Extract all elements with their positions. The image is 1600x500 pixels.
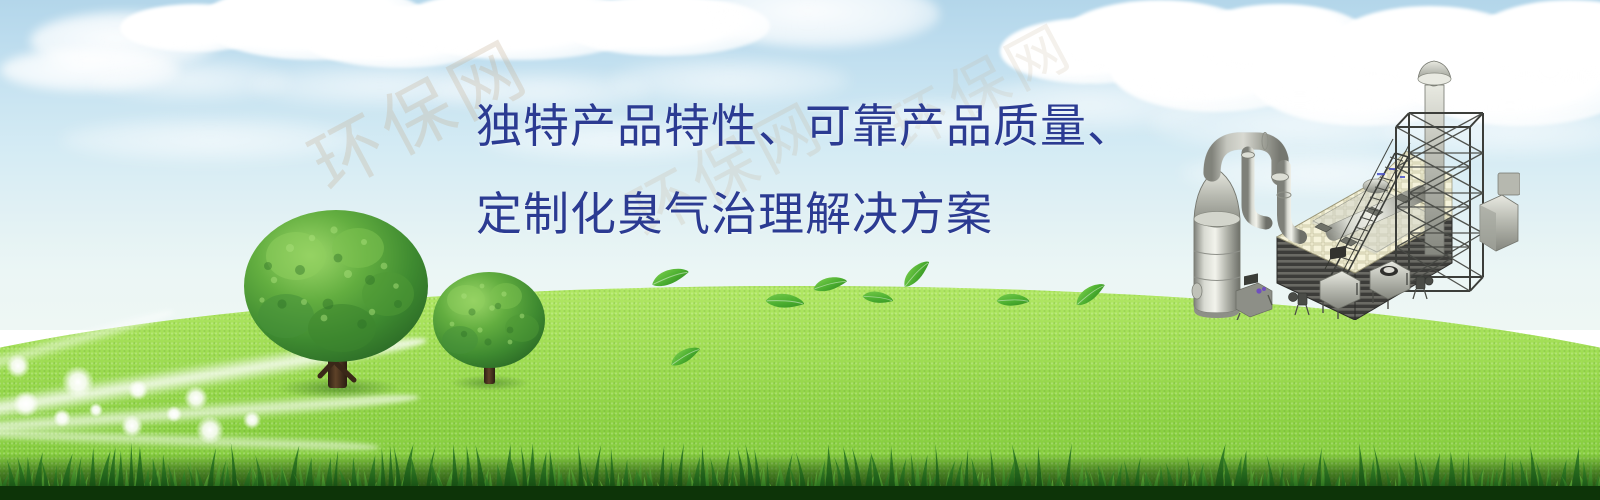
headline-line-2: 定制化臭气治理解决方案 (476, 170, 1216, 258)
grass-blades-silhouette (0, 430, 1600, 500)
foreground-turf (0, 430, 1600, 500)
headline-line-1: 独特产品特性、可靠产品质量、 (476, 82, 1216, 170)
headline: 独特产品特性、可靠产品质量、 定制化臭气治理解决方案 (476, 82, 1216, 258)
eco-industrial-banner: 环保网 环保网 环保网 (0, 0, 1600, 500)
